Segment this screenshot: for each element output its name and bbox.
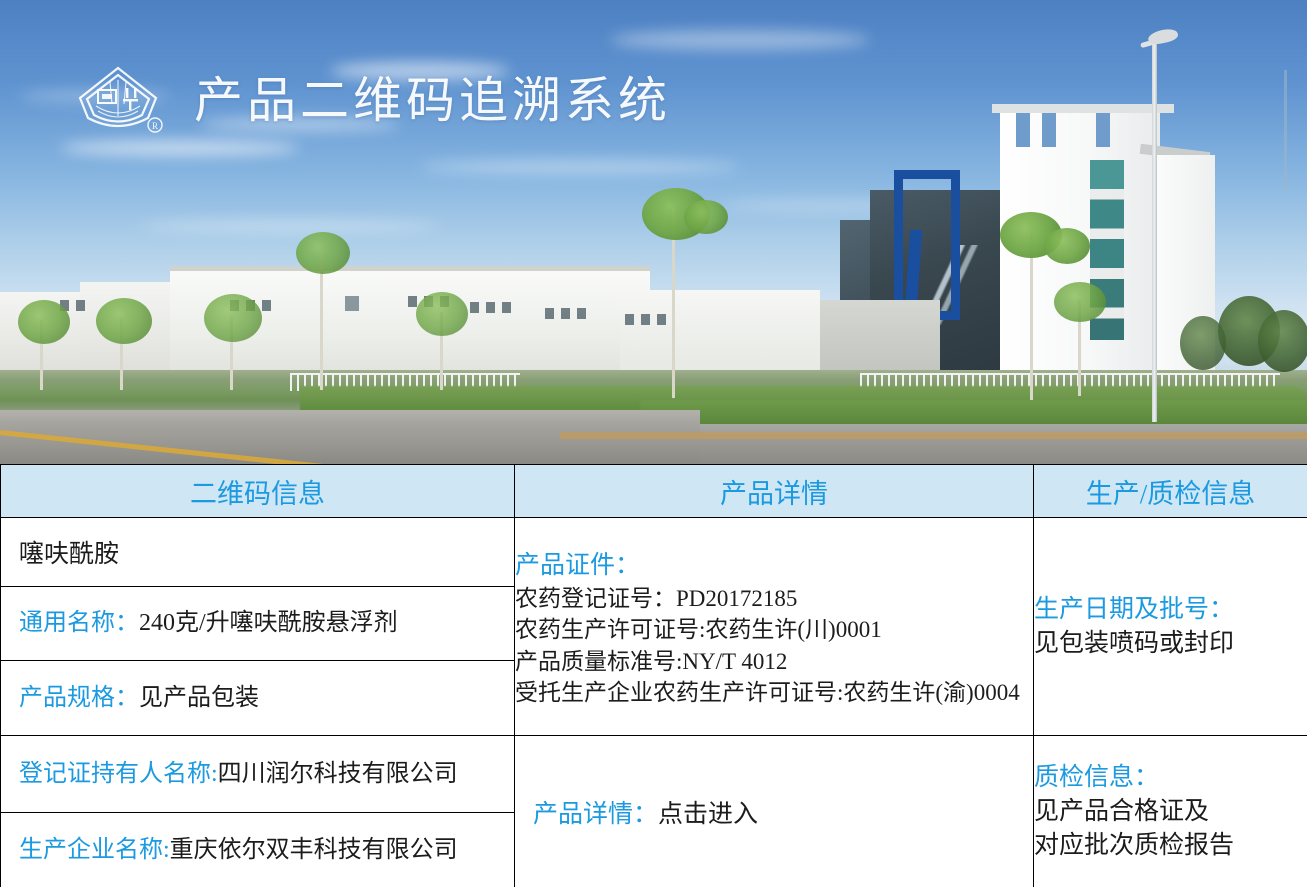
cell-registration-holder: 登记证持有人名称:四川润尔科技有限公司 (1, 736, 515, 813)
factory-photo-banner: R 产品二维码追溯系统 (0, 0, 1307, 464)
traceability-page: R 产品二维码追溯系统 二维码信息 产品详情 生产/质检信息 噻呋酰胺 (0, 0, 1307, 887)
brand-block: R 产品二维码追溯系统 (72, 58, 671, 144)
product-detail-row[interactable]: 产品详情：点击进入 (515, 794, 1033, 830)
qc-info-value-line-1: 见产品合格证及 (1034, 795, 1307, 829)
column-header-qr-info: 二维码信息 (1, 465, 515, 518)
tree-foliage (684, 200, 728, 234)
column-header-production-qc: 生产/质检信息 (1034, 465, 1307, 518)
traceability-info-table: 二维码信息 产品详情 生产/质检信息 噻呋酰胺 产品证件： 农药登记证号：PD2… (0, 464, 1307, 887)
tree-foliage (1054, 282, 1106, 322)
cloud-decoration (140, 220, 440, 232)
common-name-row: 通用名称：240克/升噻呋酰胺悬浮剂 (1, 607, 514, 639)
certificates-title: 产品证件： (515, 545, 1033, 581)
street-lamp-pole (1152, 42, 1157, 422)
tree-foliage (96, 298, 152, 344)
certificate-line: 农药生产许可证号:农药生许(川)0001 (515, 614, 1033, 645)
page-title: 产品二维码追溯系统 (194, 77, 671, 126)
certificate-line: 受托生产企业农药生产许可证号:农药生许(渝)0004 (515, 677, 1033, 708)
cloud-decoration (420, 160, 740, 174)
production-date-label: 生产日期及批号： (1034, 593, 1307, 627)
road-curb (560, 432, 1307, 439)
qc-info-value-line-2: 对应批次质检报告 (1034, 829, 1307, 863)
tree-foliage (1044, 228, 1090, 264)
registration-holder-row: 登记证持有人名称:四川润尔科技有限公司 (1, 758, 514, 790)
manufacturer-row: 生产企业名称:重庆依尔双丰科技有限公司 (1, 834, 514, 866)
roof-gap (1042, 113, 1056, 147)
cell-specification: 产品规格：见产品包装 (1, 661, 515, 736)
specification-value: 见产品包装 (139, 685, 259, 711)
certificate-line: 农药登记证号：PD20172185 (515, 583, 1033, 614)
tree-foliage (1258, 310, 1307, 372)
common-name-label: 通用名称： (19, 610, 139, 636)
specification-label: 产品规格： (19, 685, 139, 711)
cell-product-name: 噻呋酰胺 (1, 518, 515, 587)
window-row (545, 308, 586, 319)
tree-foliage (416, 292, 468, 336)
registration-holder-label: 登记证持有人名称: (19, 761, 218, 787)
cloud-decoration (610, 30, 870, 50)
window-row (345, 296, 359, 311)
tree-foliage (296, 232, 350, 274)
blue-steel-frame (894, 170, 960, 320)
specification-row: 产品规格：见产品包装 (1, 682, 514, 714)
cell-production-date: 生产日期及批号： 见包装喷码或封印 (1034, 518, 1307, 736)
guoguang-logo-icon: R (72, 58, 176, 144)
tree-foliage (204, 294, 262, 342)
window-row (470, 302, 511, 313)
cell-product-detail-link[interactable]: 产品详情：点击进入 (515, 736, 1034, 887)
cell-common-name: 通用名称：240克/升噻呋酰胺悬浮剂 (1, 587, 515, 661)
registration-holder-value: 四川润尔科技有限公司 (218, 761, 458, 787)
column-header-product-detail: 产品详情 (515, 465, 1034, 518)
product-detail-label: 产品详情： (533, 801, 658, 828)
table-row: 噻呋酰胺 产品证件： 农药登记证号：PD20172185 农药生产许可证号:农药… (1, 518, 1307, 587)
table-header-row: 二维码信息 产品详情 生产/质检信息 (1, 465, 1307, 518)
tower-roof-slab (992, 104, 1174, 113)
window-row (625, 314, 666, 325)
cell-manufacturer: 生产企业名称:重庆依尔双丰科技有限公司 (1, 813, 515, 887)
cell-qc-info: 质检信息： 见产品合格证及 对应批次质检报告 (1034, 736, 1307, 887)
cell-product-certificates: 产品证件： 农药登记证号：PD20172185 农药生产许可证号:农药生许(川)… (515, 518, 1034, 736)
tree-branch (1284, 70, 1287, 190)
manufacturer-label: 生产企业名称: (19, 837, 170, 863)
common-name-value: 240克/升噻呋酰胺悬浮剂 (139, 610, 398, 636)
table-row: 登记证持有人名称:四川润尔科技有限公司 产品详情：点击进入 质检信息： 见产品合… (1, 736, 1307, 813)
roof-gap (1096, 113, 1110, 147)
qc-info-label: 质检信息： (1034, 761, 1307, 795)
tree-foliage (18, 300, 70, 344)
factory-roof-edge (170, 266, 650, 271)
roof-gap (1016, 113, 1030, 147)
manufacturer-value: 重庆依尔双丰科技有限公司 (170, 837, 458, 863)
factory-building (620, 290, 820, 382)
tree-foliage (1180, 316, 1226, 370)
product-detail-enter-link[interactable]: 点击进入 (658, 801, 758, 828)
production-date-value: 见包装喷码或封印 (1034, 627, 1307, 661)
certificate-line: 产品质量标准号:NY/T 4012 (515, 646, 1033, 677)
product-name-value: 噻呋酰胺 (1, 534, 514, 570)
svg-text:R: R (152, 121, 158, 131)
